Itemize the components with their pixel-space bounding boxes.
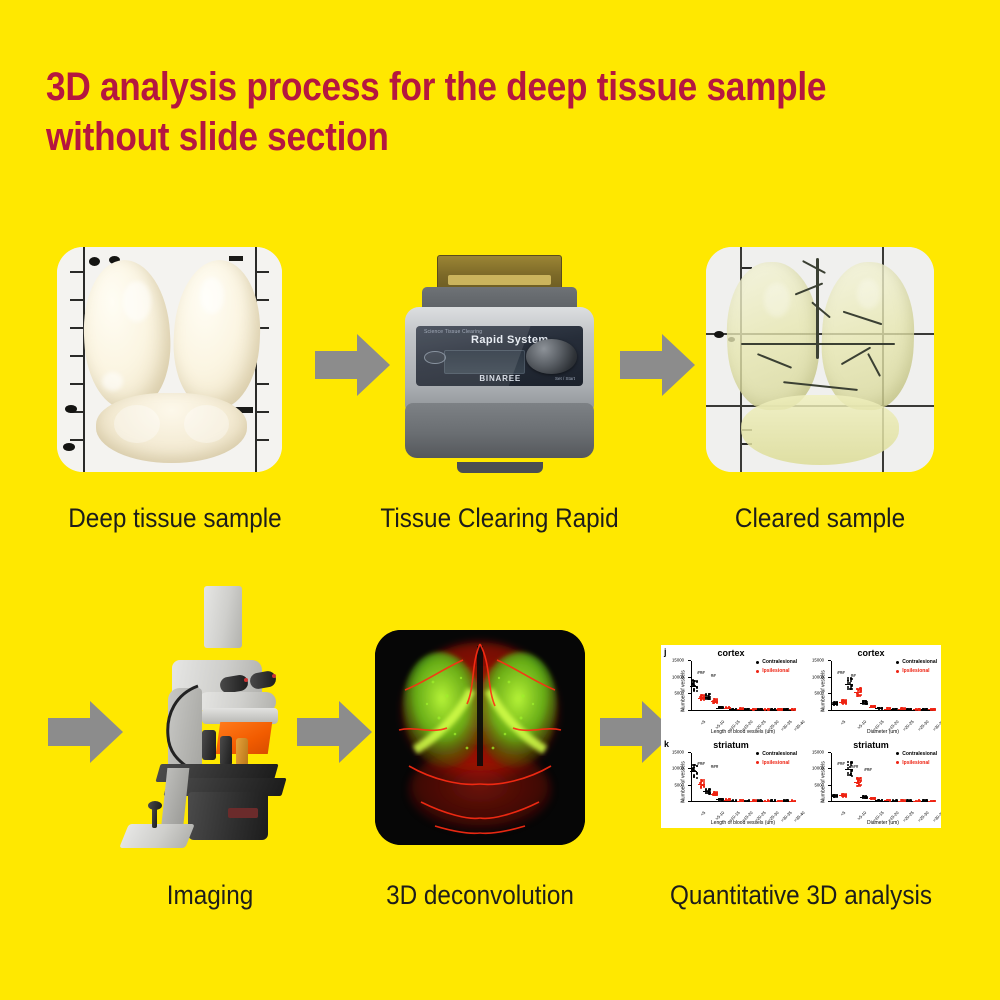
chart-mean-bar	[890, 709, 897, 710]
chart-legend-item: Contralesional	[896, 751, 937, 757]
chart-data-point	[856, 777, 858, 779]
fluorescence-brain-image	[375, 630, 585, 845]
chart-y-tick-label: 5000	[674, 782, 684, 787]
chart-mean-bar	[875, 708, 882, 709]
chart-mean-bar	[845, 684, 852, 685]
chart-significance-annotation: ###	[864, 767, 872, 772]
chart-y-tick: 5000	[688, 785, 691, 786]
chart-data-point	[860, 784, 862, 786]
chart-legend-marker	[896, 670, 899, 673]
chart-3: kstriatumNumber of vesselsLength of bloo…	[661, 737, 801, 829]
microscope-camera	[204, 586, 242, 648]
chart-y-tick: 10000	[828, 677, 831, 678]
device-knob[interactable]	[526, 339, 576, 374]
chart-mean-bar	[860, 703, 867, 704]
chart-y-tick-label: 0	[822, 799, 824, 804]
panel-3d-deconvolution	[375, 630, 585, 845]
chart-significance-annotation: ###	[711, 764, 719, 769]
device-screen	[444, 350, 524, 374]
caption-tissue-clearing-rapid: Tissue Clearing Rapid	[380, 503, 619, 534]
chart-mean-bar	[913, 709, 920, 710]
chart-legend-marker	[756, 752, 759, 755]
chart-legend-item: Ipsilesional	[896, 760, 937, 766]
microscope-objective-2	[220, 736, 232, 766]
clearing-device-image: Science Tissue Clearing Rapid System BIN…	[392, 243, 607, 473]
chart-y-tick-label: 0	[822, 707, 824, 712]
chart-y-tick: 15000	[688, 660, 691, 661]
chart-legend-item: Ipsilesional	[756, 668, 797, 674]
microscope-eyepiece-right	[249, 670, 277, 690]
chart-legend-label: Contralesional	[902, 751, 937, 757]
chart-legend-marker	[896, 761, 899, 764]
chart-mean-bar	[776, 709, 783, 710]
chart-y-tick-label: 0	[682, 707, 684, 712]
chart-legend-label: Ipsilesional	[902, 760, 929, 766]
chart-y-tick: 15000	[688, 752, 691, 753]
chart-title: cortex	[801, 648, 941, 658]
caption-3d-deconvolution: 3D deconvolution	[372, 880, 588, 911]
chart-mean-bar	[913, 801, 920, 802]
chart-grid: jcortexNumber of vesselsLength of blood …	[661, 645, 941, 828]
chart-mean-bar	[928, 709, 935, 710]
chart-mean-bar	[869, 707, 876, 708]
chart-mean-bar	[716, 708, 723, 709]
chart-x-tick-label: <5	[699, 719, 706, 726]
cleared-brain-image	[727, 254, 914, 466]
chart-legend-marker	[896, 661, 899, 664]
chart-data-point	[857, 785, 859, 787]
panel-deep-tissue-sample	[57, 247, 282, 472]
device-foot	[457, 462, 543, 474]
caption-deep-tissue-sample: Deep tissue sample	[68, 503, 271, 534]
chart-title: striatum	[801, 740, 941, 750]
device-oval-button[interactable]	[424, 351, 446, 364]
chart-legend-marker	[756, 661, 759, 664]
chart-mean-bar	[763, 709, 770, 710]
chart-legend-label: Contralesional	[762, 751, 797, 757]
chart-y-tick-label: 5000	[674, 691, 684, 696]
chart-y-tick-label: 5000	[814, 782, 824, 787]
chart-mean-bar	[920, 801, 927, 802]
page-title-line-1: 3D analysis process for the deep tissue …	[46, 62, 856, 112]
chart-legend-item: Contralesional	[756, 751, 797, 757]
chart-y-tick: 10000	[688, 677, 691, 678]
device-lid	[437, 255, 562, 292]
chart-significance-annotation: ###	[837, 761, 845, 766]
chart-mean-bar	[928, 801, 935, 802]
chart-y-tick-label: 15000	[672, 749, 684, 754]
chart-y-tick: 5000	[688, 693, 691, 694]
chart-mean-bar	[869, 798, 876, 799]
chart-legend-marker	[756, 670, 759, 673]
chart-y-tick: 10000	[828, 768, 831, 769]
chart-x-tick-label: <5	[840, 719, 847, 726]
chart-y-tick-label: 15000	[812, 658, 824, 663]
chart-mean-bar	[789, 801, 796, 802]
chart-y-tick: 5000	[828, 693, 831, 694]
panel-quantitative-analysis: jcortexNumber of vesselsLength of blood …	[661, 645, 941, 828]
caption-imaging: Imaging	[120, 880, 300, 911]
chart-legend-label: Contralesional	[762, 659, 797, 665]
chart-y-tick-label: 10000	[672, 674, 684, 679]
chart-y-tick: 0	[828, 710, 831, 711]
chart-mean-bar	[711, 701, 718, 702]
device-knob-label: Set / Start	[555, 376, 575, 381]
chart-legend-item: Contralesional	[756, 659, 797, 665]
chart-data-point	[696, 690, 698, 692]
chart-data-point	[851, 761, 853, 763]
panel-imaging-microscope	[110, 580, 310, 865]
chart-data-point	[709, 788, 711, 790]
chart-mean-bar	[690, 771, 697, 772]
chart-mean-bar	[703, 791, 710, 792]
arrow-step-1-to-2	[315, 330, 390, 400]
chart-data-point	[847, 761, 849, 763]
chart-y-axis	[691, 753, 692, 803]
chart-mean-bar	[854, 782, 861, 783]
panel-cleared-sample	[706, 247, 934, 472]
fresh-brain-image	[84, 256, 260, 463]
chart-mean-bar	[920, 709, 927, 710]
chart-mean-bar	[884, 800, 891, 801]
chart-mean-bar	[698, 784, 705, 785]
chart-x-tick-label: <5	[840, 810, 847, 817]
device-control-panel: Science Tissue Clearing Rapid System BIN…	[416, 326, 584, 386]
chart-title: cortex	[661, 648, 801, 658]
chart-mean-bar	[724, 708, 731, 709]
page-title: 3D analysis process for the deep tissue …	[46, 62, 856, 162]
figure-root: 3D analysis process for the deep tissue …	[0, 0, 1000, 1000]
chart-mean-bar	[789, 709, 796, 710]
chart-x-axis-label: Diameter (um)	[825, 820, 941, 826]
chart-y-tick-label: 5000	[814, 691, 824, 696]
chart-significance-annotation: ###	[837, 670, 845, 675]
chart-mean-bar	[716, 799, 723, 800]
chart-mean-bar	[831, 704, 838, 705]
chart-data-point	[860, 694, 862, 696]
chart-y-tick: 0	[688, 801, 691, 802]
panel-tissue-clearing-device: Science Tissue Clearing Rapid System BIN…	[392, 243, 607, 473]
caption-quantitative-analysis: Quantitative 3D analysis	[666, 880, 936, 911]
chart-mean-bar	[737, 709, 744, 710]
chart-y-tick: 0	[828, 801, 831, 802]
chart-legend: ContralesionalIpsilesional	[756, 659, 797, 677]
chart-mean-bar	[875, 800, 882, 801]
chart-mean-bar	[860, 797, 867, 798]
device-brand-label: BINAREE	[479, 374, 521, 383]
arrow-step-2-to-3	[620, 330, 695, 400]
chart-y-tick: 15000	[828, 752, 831, 753]
chart-legend-item: Ipsilesional	[896, 668, 937, 674]
chart-title: striatum	[661, 740, 801, 750]
chart-data-point	[860, 689, 862, 691]
chart-mean-bar	[890, 801, 897, 802]
chart-data-point	[696, 772, 698, 774]
chart-y-tick: 15000	[828, 660, 831, 661]
chart-mean-bar	[724, 800, 731, 801]
chart-y-tick-label: 10000	[812, 674, 824, 679]
chart-legend: ContralesionalIpsilesional	[896, 751, 937, 769]
chart-data-point	[696, 777, 698, 779]
caption-cleared-sample: Cleared sample	[717, 503, 922, 534]
chart-data-point	[860, 779, 862, 781]
device-small-label: Science Tissue Clearing	[424, 329, 482, 335]
chart-legend: ContralesionalIpsilesional	[896, 659, 937, 677]
chart-x-tick-label: <5	[699, 810, 706, 817]
chart-y-tick-label: 10000	[812, 766, 824, 771]
chart-mean-bar	[729, 709, 736, 710]
chart-4: striatumNumber of vesselsDiameter (um)05…	[801, 737, 941, 829]
chart-mean-bar	[763, 801, 770, 802]
chart-legend-label: Contralesional	[902, 659, 937, 665]
chart-mean-bar	[884, 709, 891, 710]
chart-data-point	[693, 775, 695, 777]
chart-significance-annotation: ###	[697, 670, 705, 675]
chart-y-tick-label: 10000	[672, 766, 684, 771]
chart-data-point	[851, 678, 853, 680]
chart-significance-annotation: ##	[851, 673, 856, 678]
chart-mean-bar	[690, 686, 697, 687]
chart-significance-annotation: ###	[851, 764, 859, 769]
chart-data-point	[849, 688, 851, 690]
chart-data-point	[709, 693, 711, 695]
chart-legend-marker	[896, 752, 899, 755]
microscope-cable	[156, 684, 206, 770]
chart-x-axis-label: Diameter (um)	[825, 729, 941, 735]
chart-legend-item: Contralesional	[896, 659, 937, 665]
chart-mean-bar	[737, 801, 744, 802]
chart-mean-bar	[898, 801, 905, 802]
chart-data-point	[857, 695, 859, 697]
chart-1: jcortexNumber of vesselsLength of blood …	[661, 645, 801, 737]
chart-legend: ContralesionalIpsilesional	[756, 751, 797, 769]
chart-legend-label: Ipsilesional	[902, 668, 929, 674]
chart-significance-annotation: ###	[697, 761, 705, 766]
chart-y-tick-label: 15000	[672, 658, 684, 663]
chart-y-tick-label: 0	[682, 799, 684, 804]
chart-mean-bar	[750, 709, 757, 710]
page-title-line-2: without slide section	[46, 112, 856, 162]
chart-mean-bar	[776, 801, 783, 802]
chart-legend-marker	[756, 761, 759, 764]
chart-mean-bar	[854, 692, 861, 693]
chart-mean-bar	[831, 796, 838, 797]
chart-y-tick-label: 15000	[812, 749, 824, 754]
chart-mean-bar	[698, 698, 705, 699]
chart-legend-label: Ipsilesional	[762, 668, 789, 674]
chart-mean-bar	[750, 801, 757, 802]
chart-legend-label: Ipsilesional	[762, 760, 789, 766]
chart-legend-item: Ipsilesional	[756, 760, 797, 766]
chart-y-tick: 0	[688, 710, 691, 711]
microscope-image	[110, 580, 310, 865]
chart-significance-annotation: ##	[711, 673, 716, 678]
chart-data-point	[849, 774, 851, 776]
chart-mean-bar	[711, 794, 718, 795]
chart-2: cortexNumber of vesselsDiameter (um)0500…	[801, 645, 941, 737]
chart-y-tick: 5000	[828, 785, 831, 786]
arrow-step-4-to-5	[297, 697, 372, 767]
chart-mean-bar	[839, 795, 846, 796]
chart-mean-bar	[839, 702, 846, 703]
chart-mean-bar	[898, 709, 905, 710]
chart-data-point	[703, 781, 705, 783]
chart-y-tick: 10000	[688, 768, 691, 769]
